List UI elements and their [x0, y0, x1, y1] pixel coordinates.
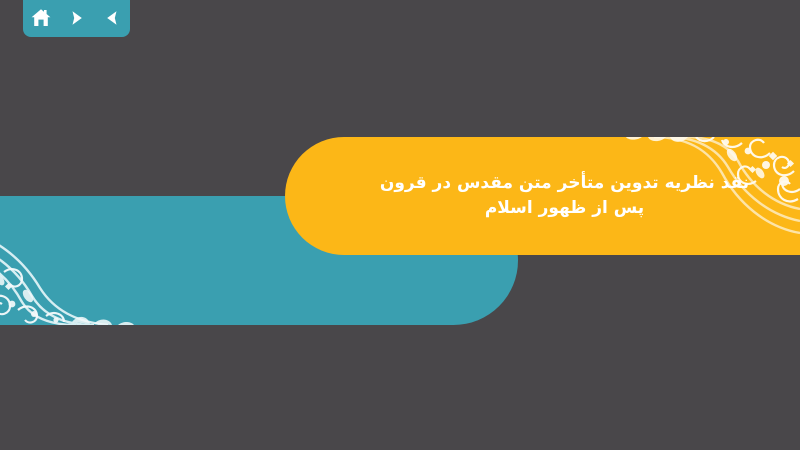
title-line-2: پس از ظهور اسلام: [485, 196, 644, 221]
home-button[interactable]: [28, 5, 54, 31]
forward-arrow-icon: [67, 8, 87, 28]
title-line-1: نقد نظریه تدوین متأخر متن مقدس در قرون: [380, 171, 749, 196]
navigation-bar: [23, 0, 130, 37]
title-panel: نقد نظریه تدوین متأخر متن مقدس در قرون پ…: [285, 137, 800, 255]
forward-button[interactable]: [64, 5, 90, 31]
home-icon: [30, 7, 52, 29]
back-button[interactable]: [99, 5, 125, 31]
back-arrow-icon: [102, 8, 122, 28]
slide-title: نقد نظریه تدوین متأخر متن مقدس در قرون پ…: [285, 137, 800, 255]
arabesque-ornament-icon: [0, 196, 160, 325]
presentation-slide: نقد نظریه تدوین متأخر متن مقدس در قرون پ…: [0, 0, 800, 450]
